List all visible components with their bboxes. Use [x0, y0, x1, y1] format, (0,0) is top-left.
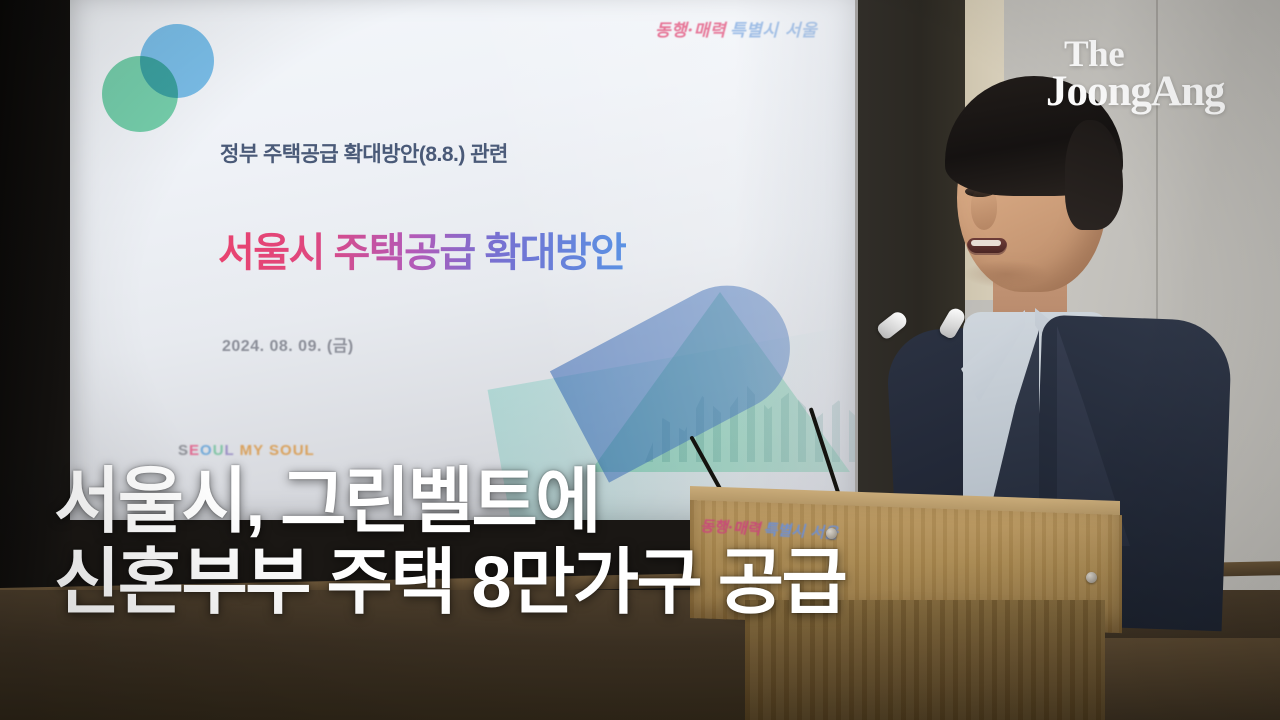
seoul-brand-scribble: 동행·매력특별시 서울 — [655, 16, 805, 50]
slide-date-text: 2024. 08. 09. (금) — [222, 332, 354, 356]
wordmark-letter-3: O — [200, 442, 213, 459]
seoul-venn-logo-icon — [100, 20, 220, 124]
news-photo-frame: 동행·매력특별시 서울 정부 주택공급 확대방안(8.8.) 관련 서울시 주택… — [0, 0, 1280, 720]
wordmark-letter-2: E — [189, 442, 200, 459]
podium-base — [745, 600, 1105, 720]
brand-scribble-part2: 특별시 서울 — [730, 21, 817, 41]
wordmark-suffix: MY SOUL — [234, 442, 314, 459]
brand-scribble-part1: 동행·매력 — [655, 21, 726, 41]
wordmark-letter-1: S — [178, 442, 189, 459]
wordmark-letter-5: L — [225, 442, 235, 459]
podium-logo-part1: 동행·매력 — [700, 517, 761, 538]
wordmark-letter-4: U — [213, 442, 225, 459]
podium-screw-right — [1086, 572, 1097, 583]
chin-shadow — [963, 260, 1049, 288]
podium-screw-left — [826, 528, 837, 539]
seoul-my-soul-wordmark: SEOUL MY SOUL — [178, 442, 315, 459]
mouth — [967, 238, 1007, 255]
venn-circle-blue — [140, 24, 214, 98]
teeth — [971, 240, 1001, 246]
background-left-black-panel — [0, 0, 72, 640]
presentation-screen: 동행·매력특별시 서울 정부 주택공급 확대방안(8.8.) 관련 서울시 주택… — [70, 0, 855, 520]
slide-kicker-text: 정부 주택공급 확대방안(8.8.) 관련 — [220, 138, 508, 168]
podium-base-grain — [745, 600, 1105, 720]
slide-main-title: 서울시 주택공급 확대방안 — [218, 220, 626, 278]
